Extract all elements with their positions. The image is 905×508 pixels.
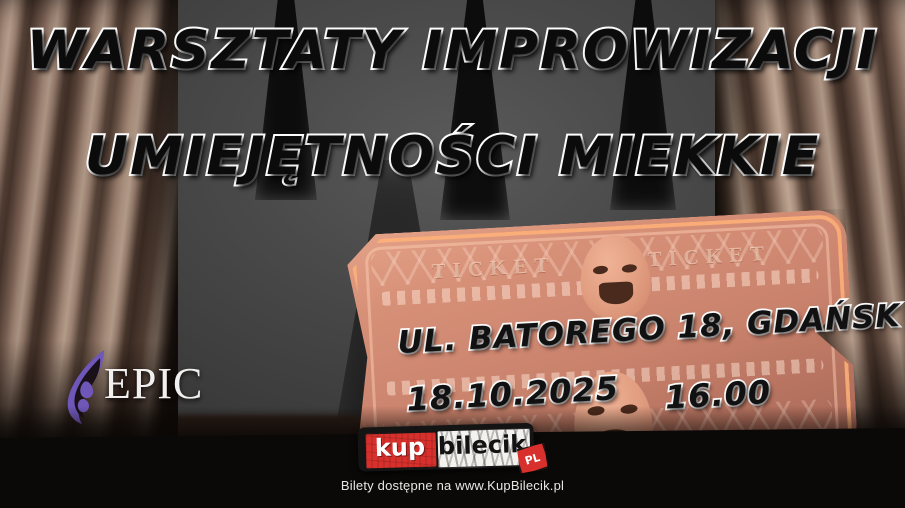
kupbilecik-bilecik-text: bilecik [438, 432, 527, 458]
comedy-mask-icon [578, 233, 652, 321]
poster-title-line-2: UMIEJĘTNOŚCI MIEKKIE [0, 126, 905, 187]
event-poster: TICKET TICKET ADMIT ONE UL. BATOREGO 18,… [0, 0, 905, 508]
poster-title-line-1: WARSZTATY IMPROWIZACJI [0, 20, 905, 81]
kupbilecik-kup-text: kup [370, 435, 431, 461]
kupbilecik-logo[interactable]: kup bilecik PL [357, 422, 548, 473]
epic-logo-text: EPIC [104, 362, 203, 406]
footer-ticket-availability: Bilety dostępne na www.KupBilecik.pl [0, 479, 905, 492]
